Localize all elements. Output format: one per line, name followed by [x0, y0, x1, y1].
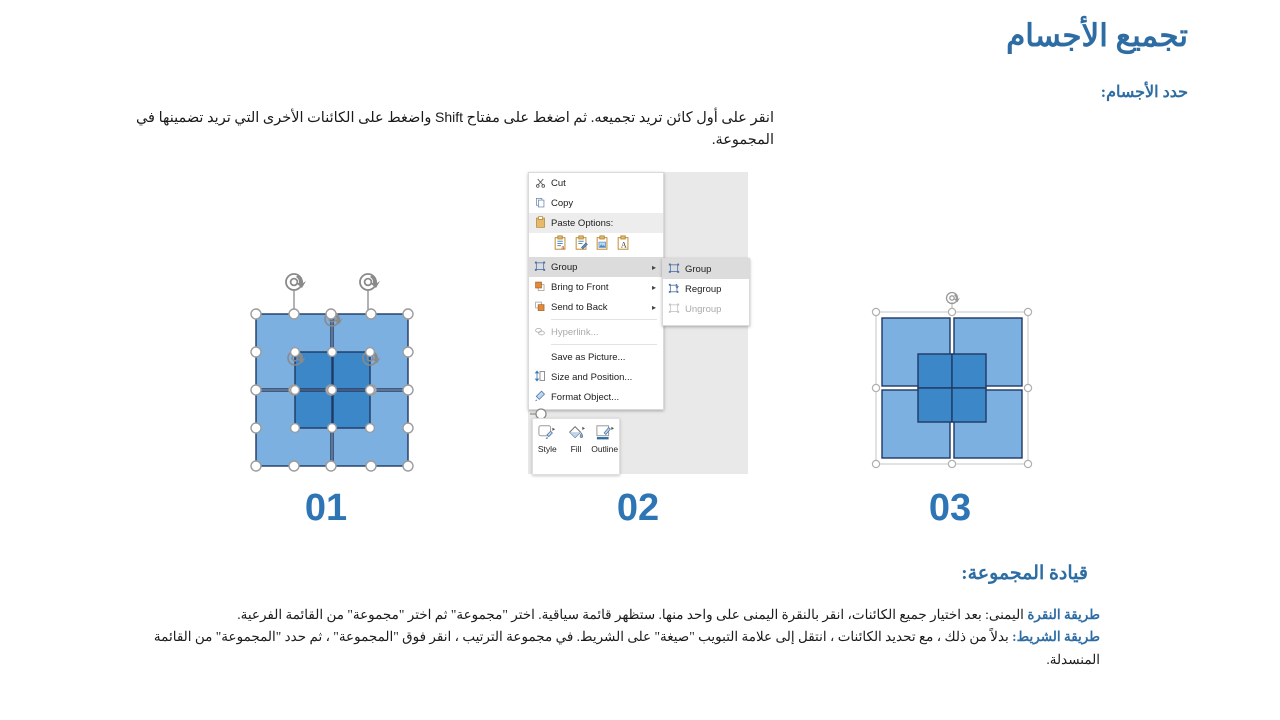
submenu-item-ungroup-label: Ungroup	[685, 304, 745, 315]
svg-text:a: a	[561, 245, 564, 251]
group-icon	[663, 263, 685, 276]
mini-toolbar-outline-button[interactable]: Outline	[590, 419, 619, 474]
slide-canvas: تجميع الأجسام حدد الأجسام: انقر على أول …	[0, 0, 1280, 720]
format-object-icon	[529, 390, 551, 404]
paste-picture-icon[interactable]	[595, 235, 610, 256]
mini-toolbar-fill-button[interactable]: Fill	[562, 419, 591, 474]
menu-item-cut-label: Cut	[551, 178, 649, 189]
section2-paragraph-1-lead: طريقة النقرة	[1027, 607, 1100, 622]
svg-text:A: A	[621, 240, 627, 249]
context-submenu-group[interactable]: Group Regroup Ungroup	[662, 258, 750, 326]
fill-bucket-icon	[566, 424, 586, 442]
regroup-icon	[663, 283, 685, 296]
copy-icon	[529, 197, 551, 210]
menu-item-paste-options-label: Paste Options:	[551, 218, 613, 229]
menu-item-group[interactable]: Group ▸	[529, 257, 663, 277]
section1-body: انقر على أول كائن تريد تجميعه. ثم اضغط ع…	[88, 107, 774, 152]
send-to-back-icon	[529, 301, 551, 314]
shape-outline-icon	[595, 424, 615, 442]
submenu-item-ungroup: Ungroup	[663, 299, 749, 319]
step-01-illustration	[240, 262, 430, 487]
menu-item-format-object[interactable]: Format Object...	[529, 387, 663, 407]
step-number-01: 01	[246, 487, 406, 530]
ungroup-icon	[663, 303, 685, 316]
shape-style-icon	[537, 424, 557, 442]
section2-paragraph-2-lead: طريقة الشريط:	[1012, 629, 1100, 644]
menu-separator	[551, 344, 657, 345]
section2-paragraph-2: طريقة الشريط: بدلاً من ذلك ، مع تحديد ال…	[140, 626, 1100, 671]
mini-toolbar-style-button[interactable]: Style	[533, 419, 562, 474]
submenu-item-group-label: Group	[685, 264, 745, 275]
menu-item-bring-to-front-label: Bring to Front	[551, 282, 649, 293]
step-03-illustration	[862, 290, 1042, 480]
section2-heading: قيادة المجموعة:	[88, 562, 1088, 585]
chevron-right-icon: ▸	[649, 283, 659, 292]
menu-item-cut[interactable]: Cut	[529, 173, 663, 193]
menu-item-size-and-position-label: Size and Position...	[551, 372, 649, 383]
step-number-02: 02	[558, 487, 718, 530]
paste-icon	[529, 216, 551, 231]
menu-item-paste-options: Paste Options:	[529, 213, 663, 233]
paste-use-destination-theme-icon[interactable]	[574, 235, 589, 256]
paste-options-row[interactable]: a A	[529, 233, 663, 257]
hyperlink-icon	[529, 326, 551, 339]
mini-toolbar-style-label: Style	[538, 444, 557, 454]
mini-toolbar[interactable]: Style Fill Outline	[532, 418, 620, 475]
menu-item-hyperlink: Hyperlink...	[529, 322, 663, 342]
menu-item-send-to-back[interactable]: Send to Back ▸	[529, 297, 663, 317]
section2-paragraph-1: طريقة النقرة اليمنى: بعد اختيار جميع الك…	[140, 604, 1100, 626]
mini-toolbar-outline-label: Outline	[591, 444, 618, 454]
step-number-03: 03	[870, 487, 1030, 530]
submenu-item-group[interactable]: Group	[663, 259, 749, 279]
menu-item-save-as-picture-label: Save as Picture...	[551, 352, 649, 363]
group-icon	[529, 261, 551, 274]
submenu-item-regroup-label: Regroup	[685, 284, 745, 295]
shift-key-label: Shift	[435, 109, 463, 125]
scissors-icon	[529, 177, 551, 190]
section1-heading: حدد الأجسام:	[88, 82, 1188, 102]
menu-item-format-object-label: Format Object...	[551, 392, 649, 403]
submenu-item-regroup[interactable]: Regroup	[663, 279, 749, 299]
menu-item-bring-to-front[interactable]: Bring to Front ▸	[529, 277, 663, 297]
section2-body: طريقة النقرة اليمنى: بعد اختيار جميع الك…	[140, 604, 1100, 671]
page-title: تجميع الأجسام	[88, 18, 1188, 54]
menu-item-send-to-back-label: Send to Back	[551, 302, 649, 313]
mini-toolbar-fill-label: Fill	[571, 444, 582, 454]
context-menu[interactable]: Cut Copy Paste Options: a	[528, 172, 664, 410]
chevron-right-icon: ▸	[649, 303, 659, 312]
menu-item-size-and-position[interactable]: Size and Position...	[529, 367, 663, 387]
bring-to-front-icon	[529, 281, 551, 294]
menu-item-copy-label: Copy	[551, 198, 649, 209]
menu-item-copy[interactable]: Copy	[529, 193, 663, 213]
size-position-icon	[529, 370, 551, 384]
section2-paragraph-1-rest: اليمنى: بعد اختيار جميع الكائنات، انقر ب…	[237, 607, 1027, 622]
section2-paragraph-2-rest: بدلاً من ذلك ، مع تحديد الكائنات ، انتقل…	[154, 629, 1100, 666]
paste-text-only-icon[interactable]: A	[616, 235, 631, 256]
chevron-right-icon: ▸	[649, 263, 659, 272]
menu-separator	[551, 319, 657, 320]
menu-item-save-as-picture[interactable]: Save as Picture...	[529, 347, 663, 367]
section1-body-before: انقر على أول كائن تريد تجميعه. ثم اضغط ع…	[463, 110, 774, 126]
menu-item-hyperlink-label: Hyperlink...	[551, 327, 649, 338]
paste-keep-source-formatting-icon[interactable]: a	[553, 235, 568, 256]
menu-item-group-label: Group	[551, 262, 649, 273]
